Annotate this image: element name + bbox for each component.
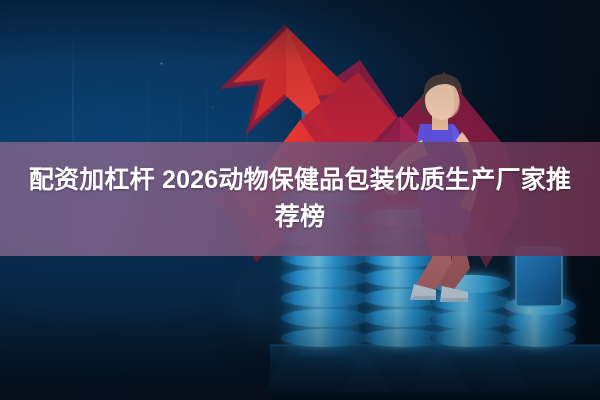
title-overlay-band: 配资加杠杆 2026动物保健品包装优质生产厂家推荐榜 (0, 142, 600, 256)
page-title: 配资加杠杆 2026动物保健品包装优质生产厂家推荐榜 (20, 162, 580, 236)
banner-image: 配资加杠杆 2026动物保健品包装优质生产厂家推荐榜 (0, 0, 600, 400)
